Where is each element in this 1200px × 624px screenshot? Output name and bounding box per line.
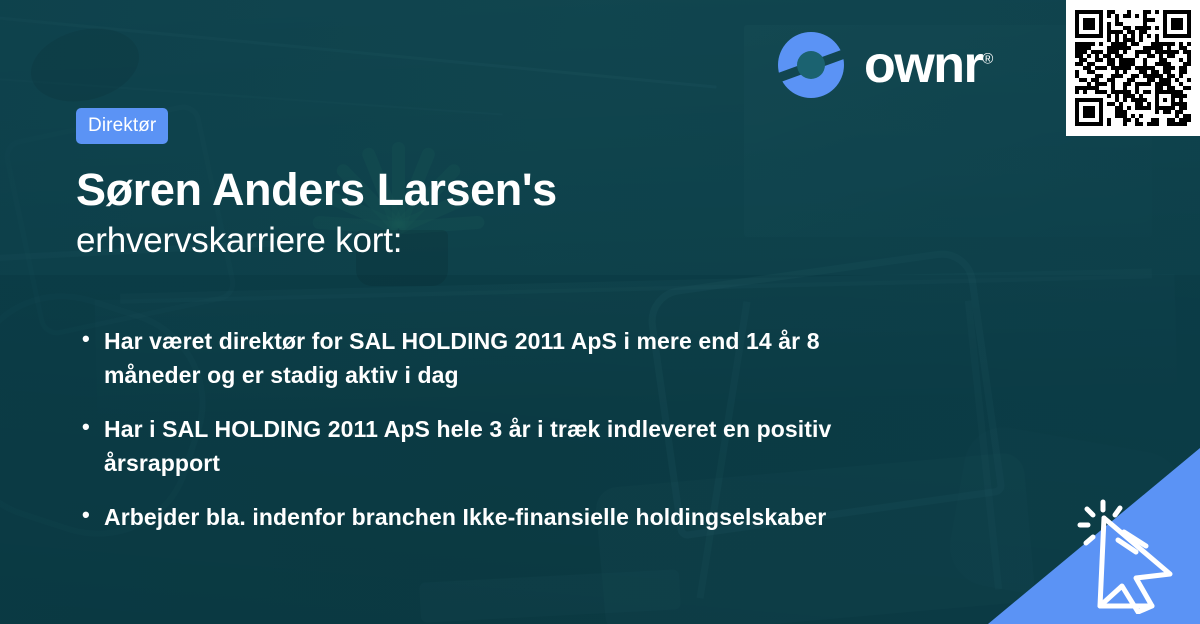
qr-code-icon[interactable] bbox=[1075, 10, 1191, 126]
role-badge: Direktør bbox=[76, 108, 168, 144]
page-subtitle: erhvervskarriere kort: bbox=[76, 222, 1036, 261]
registered-mark: ® bbox=[982, 51, 993, 68]
ownr-wordmark: ownr® bbox=[864, 39, 993, 91]
list-item: Har været direktør for SAL HOLDING 2011 … bbox=[76, 324, 906, 392]
ownr-wordmark-text: ownr bbox=[864, 36, 982, 94]
list-item: Arbejder bla. indenfor branchen Ikke-fin… bbox=[76, 500, 906, 534]
ownr-circle-logo-icon bbox=[776, 30, 846, 100]
page-title: Søren Anders Larsen's bbox=[76, 166, 1036, 214]
career-facts-list: Har været direktør for SAL HOLDING 2011 … bbox=[76, 324, 1036, 534]
list-item: Har i SAL HOLDING 2011 ApS hele 3 år i t… bbox=[76, 412, 906, 480]
click-cursor-icon bbox=[1074, 496, 1186, 614]
career-card-canvas: ownr® Direktør Søren Anders Larsen's erh… bbox=[0, 0, 1200, 624]
ownr-logo[interactable]: ownr® bbox=[776, 30, 993, 100]
qr-code-panel[interactable] bbox=[1066, 0, 1200, 136]
card-content: Direktør Søren Anders Larsen's erhvervsk… bbox=[76, 108, 1036, 554]
